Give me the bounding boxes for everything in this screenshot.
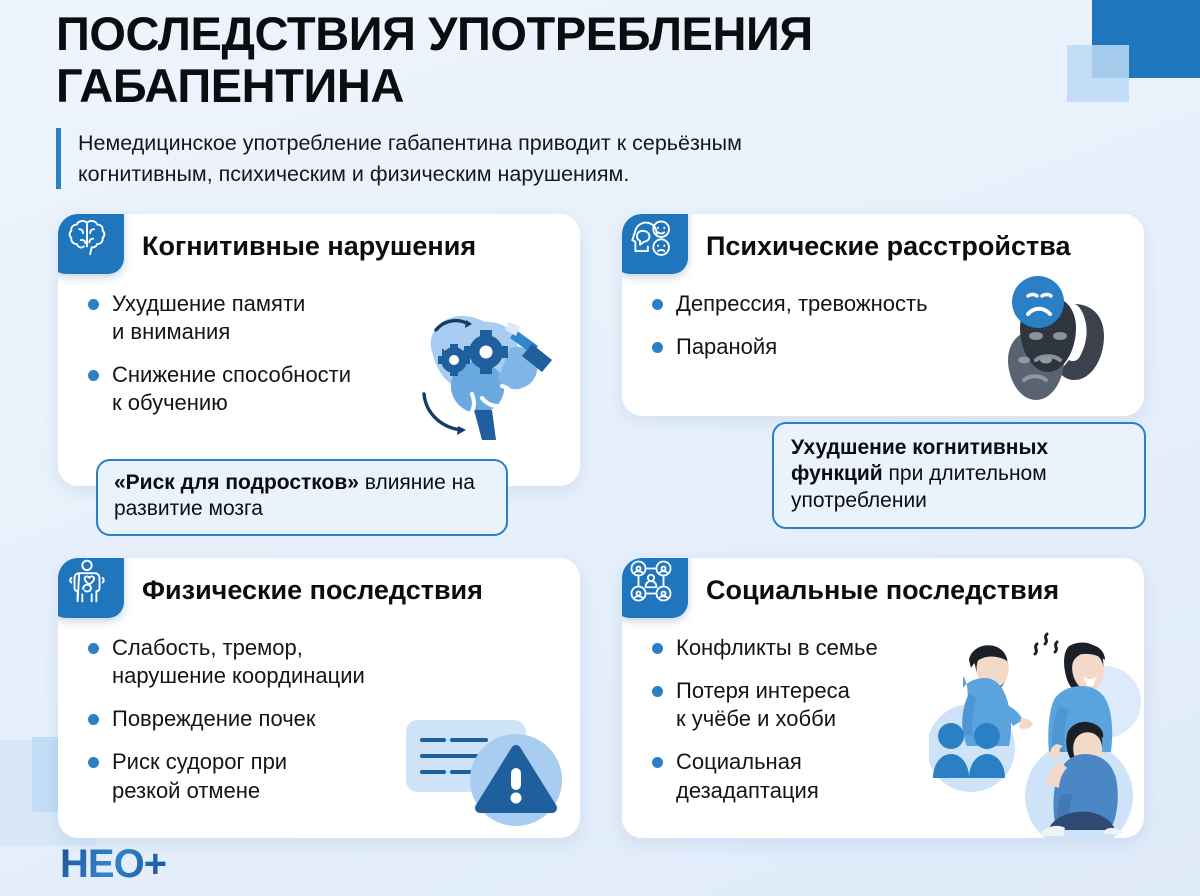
head-emotions-icon — [622, 214, 688, 274]
bullet-text: Паранойя — [676, 333, 777, 361]
bullet-dot-icon — [88, 643, 99, 654]
list-item: Повреждение почек — [88, 705, 560, 733]
header: ПОСЛЕДСТВИЯ УПОТРЕБЛЕНИЯ ГАБАПЕНТИНА Нем… — [56, 8, 1066, 189]
card-title: Психические расстройства — [706, 232, 1130, 262]
list-item: Потеря интереса к учёбе и хобби — [652, 677, 1124, 733]
logo-text: НЕО+ — [60, 842, 166, 887]
people-network-icon — [622, 558, 688, 618]
bullet-dot-icon — [652, 299, 663, 310]
list-item: Снижение способности к обучению — [88, 361, 560, 417]
bullet-dot-icon — [88, 299, 99, 310]
list-item: Социальная дезадаптация — [652, 748, 1124, 804]
bullet-dot-icon — [652, 757, 663, 768]
bullet-text: Снижение способности к обучению — [112, 361, 351, 417]
card-mental: Психические расстройства Депрессия, трев… — [622, 214, 1144, 416]
card-physical: Физические последствия Слабость, тремор,… — [58, 558, 580, 838]
card-cognitive: Когнитивные нарушения Ухудшение памяти и… — [58, 214, 580, 486]
list-item: Конфликты в семье — [652, 634, 1124, 662]
body-organs-icon — [58, 558, 124, 618]
list-item: Риск судорог при резкой отмене — [88, 748, 560, 804]
brain-icon — [58, 214, 124, 274]
bullet-dot-icon — [652, 686, 663, 697]
card-title: Когнитивные нарушения — [142, 232, 566, 262]
bullet-list: Слабость, тремор, нарушение координации … — [88, 634, 560, 805]
card-title: Социальные последствия — [706, 576, 1130, 606]
bullet-text: Конфликты в семье — [676, 634, 878, 662]
bullet-text: Социальная дезадаптация — [676, 748, 819, 804]
decor-square-light — [1067, 45, 1129, 102]
list-item: Ухудшение памяти и внимания — [88, 290, 560, 346]
list-item: Паранойя — [652, 333, 1124, 361]
card-title: Физические последствия — [142, 576, 566, 606]
bullet-text: Риск судорог при резкой отмене — [112, 748, 287, 804]
list-item: Депрессия, тревожность — [652, 290, 1124, 318]
list-item: Слабость, тремор, нарушение координации — [88, 634, 560, 690]
page-title: ПОСЛЕДСТВИЯ УПОТРЕБЛЕНИЯ ГАБАПЕНТИНА — [56, 8, 1066, 111]
callout-teen-risk: «Риск для подростков» влияние на развити… — [96, 459, 508, 536]
subtitle-block: Немедицинское употребление габапентина п… — [56, 128, 1066, 189]
bullet-text: Повреждение почек — [112, 705, 316, 733]
subtitle-text: Немедицинское употребление габапентина п… — [78, 128, 1066, 189]
decor-square-bottom-left-b — [32, 737, 60, 812]
bullet-text: Потеря интереса к учёбе и хобби — [676, 677, 850, 733]
logo: НЕО+ — [60, 842, 166, 887]
bullet-list: Депрессия, тревожность Паранойя — [652, 290, 1124, 361]
bullet-text: Депрессия, тревожность — [676, 290, 928, 318]
bullet-text: Ухудшение памяти и внимания — [112, 290, 305, 346]
bullet-dot-icon — [652, 643, 663, 654]
callout-teen-risk-text: «Риск для подростков» влияние на развити… — [114, 470, 490, 523]
card-social: Социальные последствия — [622, 558, 1144, 838]
bullet-list: Ухудшение памяти и внимания Снижение спо… — [88, 290, 560, 418]
callout-teen-risk-bold: «Риск для подростков» — [114, 471, 359, 494]
bullet-text: Слабость, тремор, нарушение координации — [112, 634, 365, 690]
callout-chronic-use-text: Ухудшение когнитивных функций при длител… — [791, 435, 1127, 514]
bullet-dot-icon — [652, 342, 663, 353]
bullet-dot-icon — [88, 370, 99, 381]
bullet-list: Конфликты в семье Потеря интереса к учёб… — [652, 634, 1124, 805]
bullet-dot-icon — [88, 757, 99, 768]
callout-chronic-use: Ухудшение когнитивных функций при длител… — [772, 422, 1146, 529]
bullet-dot-icon — [88, 714, 99, 725]
